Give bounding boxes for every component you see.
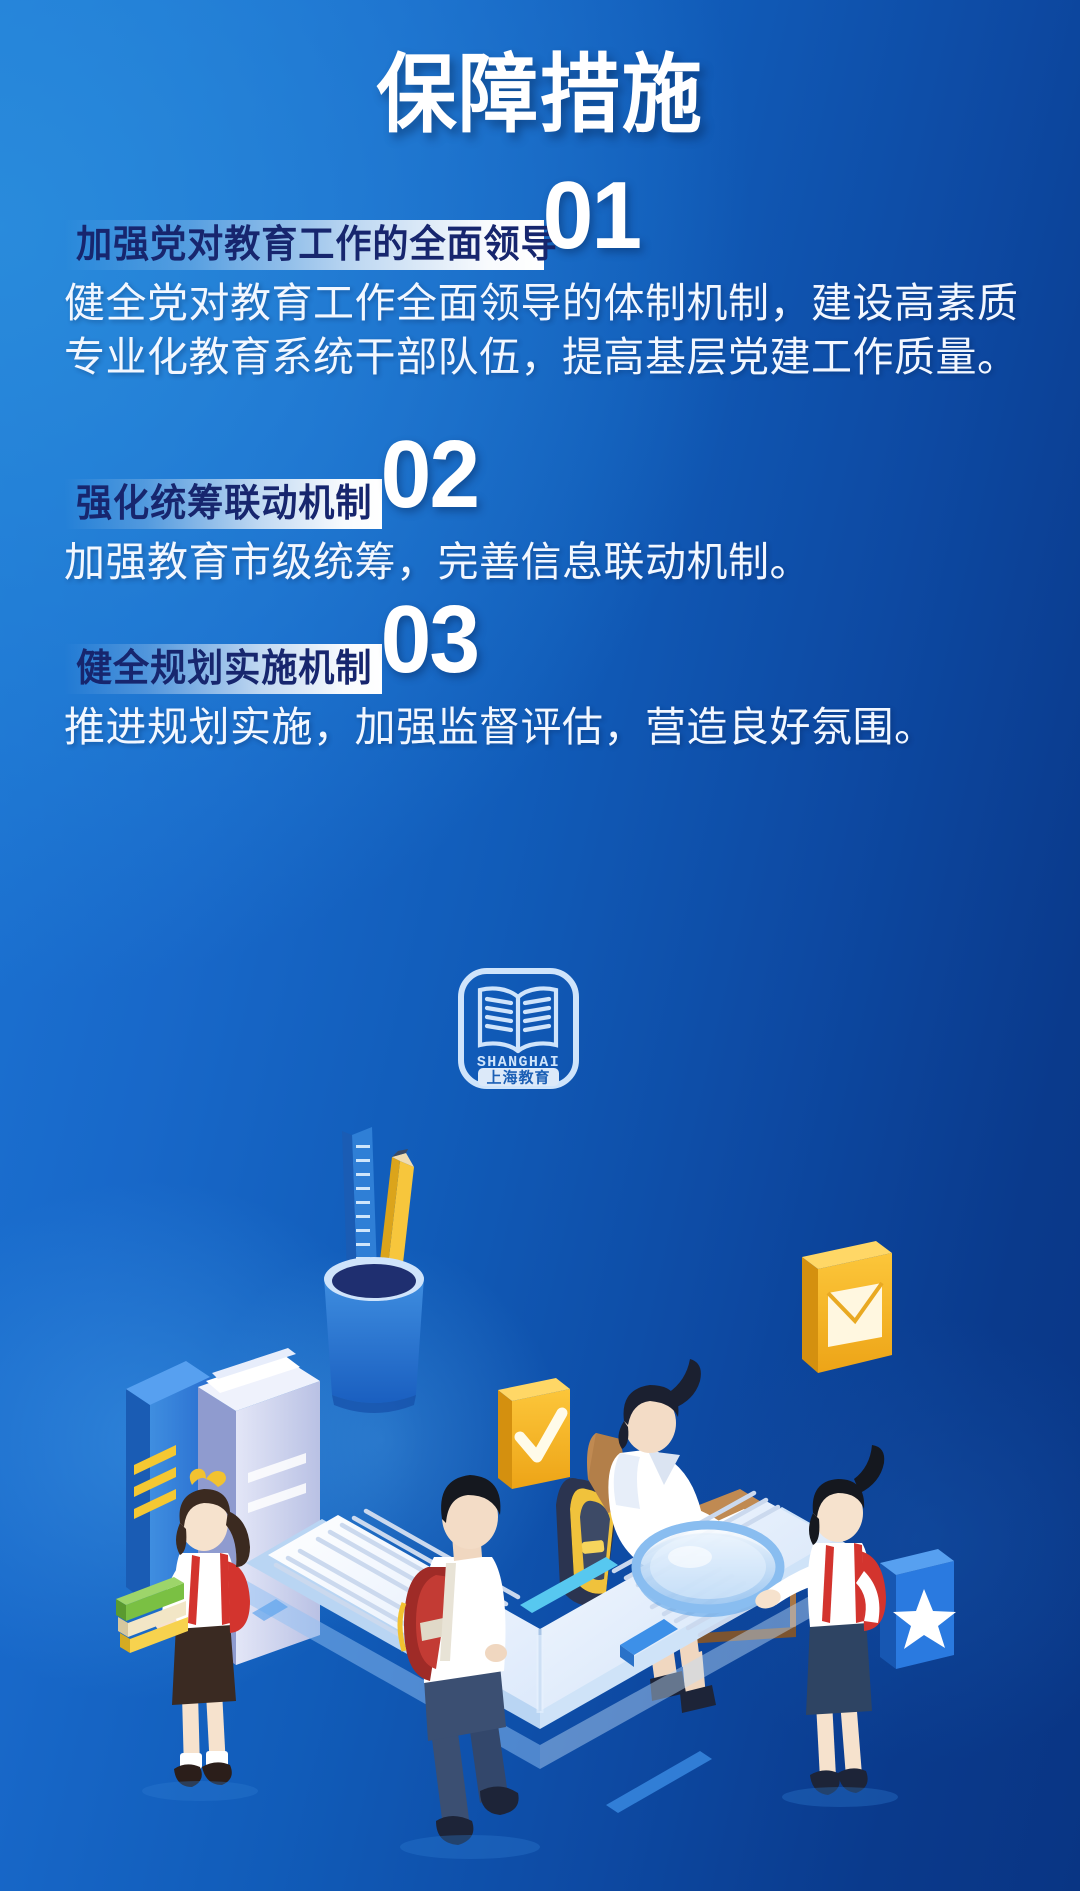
section-03-heading: 健全规划实施机制	[76, 650, 372, 688]
isometric-students-reading-scene	[0, 1105, 1080, 1891]
section-02-body: 加强教育市级统筹，完善信息联动机制。	[64, 535, 1020, 589]
shanghai-education-logo: SHANGHAI 上海教育	[456, 966, 581, 1091]
section-03: 健全规划实施机制 03 推进规划实施，加强监督评估，营造良好氛围。	[0, 620, 1080, 754]
logo-chinese-text: 上海教育	[486, 1069, 550, 1087]
pencil-cup	[324, 1127, 424, 1413]
section-02-head-bar: 强化统筹联动机制	[64, 479, 382, 529]
illustration-svg	[0, 1105, 1080, 1891]
section-01-head-row: 加强党对教育工作的全面领导 01	[64, 196, 1080, 270]
star-card	[880, 1549, 956, 1669]
section-01-head-bar: 加强党对教育工作的全面领导	[64, 220, 544, 270]
page-title: 保障措施	[38, 52, 1042, 138]
section-02: 强化统筹联动机制 02 加强教育市级统筹，完善信息联动机制。	[0, 455, 1080, 589]
section-01: 加强党对教育工作的全面领导 01 健全党对教育工作全面领导的体制机制，建设高素质…	[0, 196, 1080, 384]
section-03-head-row: 健全规划实施机制 03	[64, 620, 1080, 694]
section-02-heading: 强化统筹联动机制	[76, 485, 372, 523]
section-03-number: 03	[381, 601, 479, 680]
checkmark-card	[498, 1378, 570, 1489]
logo-icon: SHANGHAI 上海教育	[456, 966, 581, 1091]
envelope-card	[802, 1241, 892, 1373]
section-01-heading: 加强党对教育工作的全面领导	[76, 226, 558, 264]
section-03-head-bar: 健全规划实施机制	[64, 644, 382, 694]
poster-canvas: 保障措施 加强党对教育工作的全面领导 01 健全党对教育工作全面领导的体制机制，…	[0, 0, 1080, 1891]
section-02-number: 02	[381, 436, 479, 515]
section-02-head-row: 强化统筹联动机制 02	[64, 455, 1080, 529]
section-01-body: 健全党对教育工作全面领导的体制机制，建设高素质专业化教育系统干部队伍，提高基层党…	[64, 276, 1020, 384]
section-01-number: 01	[543, 177, 641, 256]
student-boy-with-backpack	[400, 1475, 519, 1845]
section-03-body: 推进规划实施，加强监督评估，营造良好氛围。	[64, 700, 1020, 754]
ground-glow	[142, 1781, 898, 1859]
